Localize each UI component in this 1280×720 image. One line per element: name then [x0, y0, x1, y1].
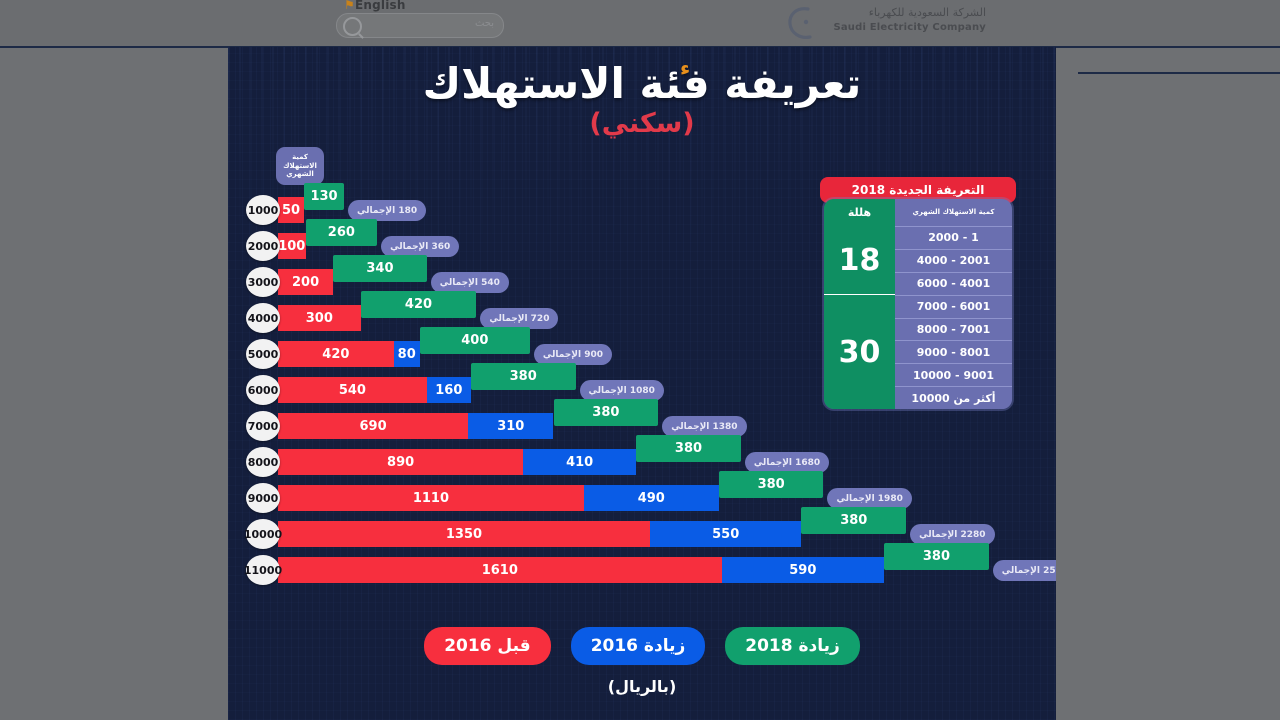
row-total-badge: 2580 الإجمالي	[993, 560, 1056, 581]
tariff-tier-row: 1 - 2000	[895, 226, 1012, 249]
segment-before-2016: 420	[278, 341, 394, 367]
tariff-column-rate: هللة 18 30	[824, 199, 895, 409]
page-title-text: تعريفة فئة الاستهلاك	[423, 59, 862, 108]
search-input[interactable]: بحث	[475, 18, 494, 29]
tariff-tier-row: 6001 - 7000	[895, 295, 1012, 318]
row-category-label: 2000	[246, 231, 280, 261]
segment-increase-2018: 260	[306, 219, 378, 246]
segment-increase-2018: 340	[333, 255, 427, 282]
page-subtitle: (سكني)	[228, 109, 1056, 139]
segment-increase-2016: 590	[722, 557, 885, 583]
infographic-title-block: ء تعريفة فئة الاستهلاك (سكني)	[228, 61, 1056, 139]
segment-before-2016: 50	[278, 197, 304, 223]
site-logo[interactable]: الشركة السعودية للكهرباء Saudi Electrici…	[786, 2, 986, 44]
legend-item-increase_2018: زيادة 2018	[725, 627, 860, 665]
language-switch-link[interactable]: English⚑	[344, 0, 406, 12]
segment-before-2016: 100	[278, 233, 306, 259]
tariff-tier-row: أكثر من 10000	[895, 386, 1012, 409]
row-category-label: 4000	[246, 303, 280, 333]
header-divider-secondary	[1078, 72, 1280, 74]
row-total-badge: 720 الإجمالي	[480, 308, 558, 329]
segment-increase-2016: 310	[468, 413, 553, 439]
row-total-badge: 360 الإجمالي	[381, 236, 459, 257]
row-total-badge: 2280 الإجمالي	[910, 524, 994, 545]
axis-label-consumption: كمية الاستهلاك الشهري	[276, 147, 324, 185]
tariff-tier-row: 8001 - 9000	[895, 340, 1012, 363]
logo-text-en: Saudi Electricity Company	[833, 22, 986, 33]
tariff-rate-high: 30	[824, 295, 895, 409]
segment-increase-2018: 380	[471, 363, 576, 390]
segment-before-2016: 1610	[278, 557, 722, 583]
row-category-label: 10000	[246, 519, 280, 549]
row-category-label: 8000	[246, 447, 280, 477]
infographic-image: ء تعريفة فئة الاستهلاك (سكني) كمية الاست…	[228, 47, 1056, 720]
row-category-label: 5000	[246, 339, 280, 369]
segment-increase-2016: 550	[650, 521, 802, 547]
tariff-col-header-consumption: كمية الاستهلاك الشهري	[895, 199, 1012, 226]
segment-increase-2018: 380	[636, 435, 741, 462]
row-category-label: 1000	[246, 195, 280, 225]
tariff-col-header-rate: هللة	[824, 199, 895, 226]
segment-before-2016: 690	[278, 413, 468, 439]
search-box[interactable]: بحث	[336, 13, 504, 38]
segment-increase-2018: 400	[420, 327, 530, 354]
tariff-tier-row: 7001 - 8000	[895, 318, 1012, 341]
chart-legend: زيادة 2018زيادة 2016قبل 2016	[228, 627, 1056, 665]
row-category-label: 6000	[246, 375, 280, 405]
segment-increase-2016: 160	[427, 377, 471, 403]
row-category-label: 9000	[246, 483, 280, 513]
segment-increase-2016: 410	[523, 449, 636, 475]
row-total-badge: 1380 الإجمالي	[662, 416, 746, 437]
segment-before-2016: 1350	[278, 521, 650, 547]
tariff-column-consumption: كمية الاستهلاك الشهري 1 - 20002001 - 400…	[895, 199, 1012, 409]
row-category-label: 11000	[246, 555, 280, 585]
legend-item-increase_2016: زيادة 2016	[571, 627, 706, 665]
segment-increase-2018: 380	[801, 507, 906, 534]
segment-increase-2018: 420	[361, 291, 477, 318]
tariff-table-body: كمية الاستهلاك الشهري 1 - 20002001 - 400…	[824, 199, 1012, 409]
title-hamza-mark: ء	[680, 57, 690, 79]
segment-before-2016: 1110	[278, 485, 584, 511]
row-total-badge: 1980 الإجمالي	[827, 488, 911, 509]
segment-before-2016: 890	[278, 449, 523, 475]
legend-item-before_2016: قبل 2016	[424, 627, 551, 665]
segment-increase-2016: 490	[584, 485, 719, 511]
segment-before-2016: 540	[278, 377, 427, 403]
row-total-badge: 1680 الإجمالي	[745, 452, 829, 473]
page-title: ء تعريفة فئة الاستهلاك	[423, 61, 862, 107]
row-total-badge: 900 الإجمالي	[534, 344, 612, 365]
row-total-badge: 180 الإجمالي	[348, 200, 426, 221]
row-total-badge: 540 الإجمالي	[431, 272, 509, 293]
tariff-rate-low: 18	[824, 226, 895, 295]
language-switch-label: English	[355, 0, 406, 12]
segment-before-2016: 300	[278, 305, 361, 331]
segment-increase-2018: 380	[884, 543, 989, 570]
search-icon	[343, 17, 362, 36]
segment-increase-2018: 130	[304, 183, 344, 210]
row-category-label: 7000	[246, 411, 280, 441]
row-total-badge: 1080 الإجمالي	[580, 380, 664, 401]
site-header-bar	[0, 0, 1280, 47]
row-category-label: 3000	[246, 267, 280, 297]
segment-increase-2018: 380	[554, 399, 659, 426]
segment-before-2016: 200	[278, 269, 333, 295]
currency-note: (بالريال)	[228, 677, 1056, 696]
segment-increase-2018: 380	[719, 471, 824, 498]
sec-logo-icon	[786, 5, 816, 41]
flag-icon: ⚑	[344, 0, 355, 12]
tariff-tier-row: 9001 - 10000	[895, 363, 1012, 386]
tariff-tier-row: 4001 - 6000	[895, 272, 1012, 295]
logo-text-ar: الشركة السعودية للكهرباء	[869, 6, 986, 19]
segment-increase-2016: 80	[394, 341, 420, 367]
tariff-tier-row: 2001 - 4000	[895, 249, 1012, 272]
tariff-table: التعريفة الجديدة 2018 كمية الاستهلاك الش…	[820, 177, 1016, 409]
